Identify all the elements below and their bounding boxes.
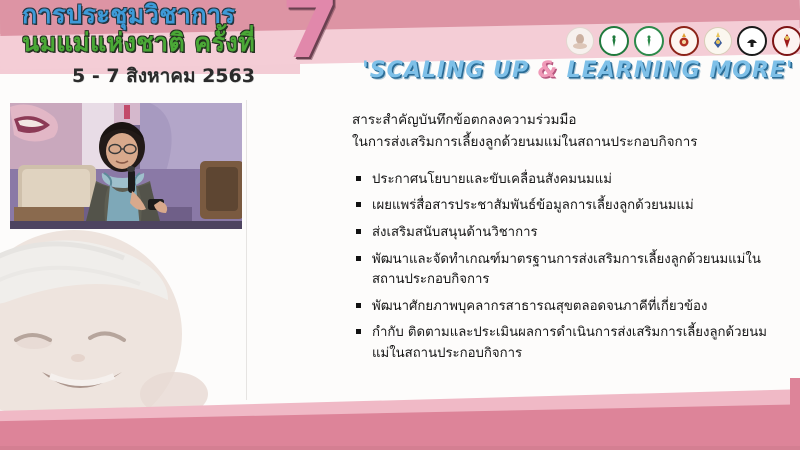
conference-title-line1: การประชุมวิชาการ	[22, 2, 292, 27]
royal-emblem-logo	[566, 27, 594, 55]
conference-date: 5 - 7 สิงหาคม 2563	[72, 61, 292, 91]
sponsor-logo-row: สสส	[566, 26, 800, 56]
square-bullet-icon	[356, 202, 361, 207]
department-health-logo	[634, 26, 664, 56]
content-heading: สาระสำคัญบันทึกข้อตกลงความร่วมมือ ในการส…	[352, 110, 782, 154]
bullet-list: ประกาศนโยบายและขับเคลื่อนสังคมนมแม่ เผยแ…	[352, 170, 782, 365]
slide-content: สาระสำคัญบันทึกข้อตกลงความร่วมมือ ในการส…	[352, 110, 782, 370]
royal-garuda-logo	[704, 27, 732, 55]
square-bullet-icon	[356, 176, 361, 181]
list-item-text: พัฒนาศักยภาพบุคลากรสาธารณสุขตลอดจนภาคีที…	[372, 299, 707, 314]
list-item: ส่งเสริมสนับสนุนด้านวิชาการ	[352, 223, 782, 244]
medical-council-logo	[772, 26, 800, 56]
list-item-text: พัฒนาและจัดทำเกณฑ์มาตรฐานการส่งเสริมการเ…	[372, 252, 761, 288]
speaker-video-feed[interactable]	[10, 103, 242, 229]
list-item: กำกับ ติดตามและประเมินผลการดำเนินการส่งเ…	[352, 323, 782, 364]
list-item: เผยแพร่สื่อสารประชาสัมพันธ์ข้อมูลการเลี้…	[352, 196, 782, 217]
footer-edge-right	[790, 378, 800, 450]
content-heading-line1: สาระสำคัญบันทึกข้อตกลงความร่วมมือ	[352, 110, 782, 132]
list-item-text: เผยแพร่สื่อสารประชาสัมพันธ์ข้อมูลการเลี้…	[372, 198, 694, 213]
list-item: พัฒนาและจัดทำเกณฑ์มาตรฐานการส่งเสริมการเ…	[352, 250, 782, 291]
thai-pediatric-logo	[669, 26, 699, 56]
breastfeeding-foundation-logo	[737, 26, 767, 56]
square-bullet-icon	[356, 256, 361, 261]
ministry-public-health-logo	[599, 26, 629, 56]
footer-bottom-strip	[0, 446, 800, 450]
conference-title-line2: นมแม่แห่งชาติ ครั้งที่	[22, 30, 292, 55]
square-bullet-icon	[356, 329, 361, 334]
list-item-text: ประกาศนโยบายและขับเคลื่อนสังคมนมแม่	[372, 172, 612, 187]
list-item: พัฒนาศักยภาพบุคลากรสาธารณสุขตลอดจนภาคีที…	[352, 297, 782, 318]
tagline-part1: 'SCALING UP	[362, 58, 538, 83]
square-bullet-icon	[356, 229, 361, 234]
presentation-slide: 7 การประชุมวิชาการ นมแม่แห่งชาติ ครั้งที…	[0, 0, 800, 450]
list-item: ประกาศนโยบายและขับเคลื่อนสังคมนมแม่	[352, 170, 782, 191]
conference-tagline: 'SCALING UP & LEARNING MORE'	[362, 58, 794, 83]
list-item-text: ส่งเสริมสนับสนุนด้านวิชาการ	[372, 225, 538, 240]
list-item-text: กำกับ ติดตามและประเมินผลการดำเนินการส่งเ…	[372, 325, 767, 361]
square-bullet-icon	[356, 303, 361, 308]
conference-title-block: การประชุมวิชาการ นมแม่แห่งชาติ ครั้งที่ …	[22, 2, 292, 91]
tagline-ampersand: &	[538, 58, 558, 83]
content-divider	[246, 100, 247, 400]
content-heading-line2: ในการส่งเสริมการเลี้ยงลูกด้วยนมแม่ในสถาน…	[352, 132, 782, 154]
tagline-part2: LEARNING MORE'	[558, 58, 794, 83]
